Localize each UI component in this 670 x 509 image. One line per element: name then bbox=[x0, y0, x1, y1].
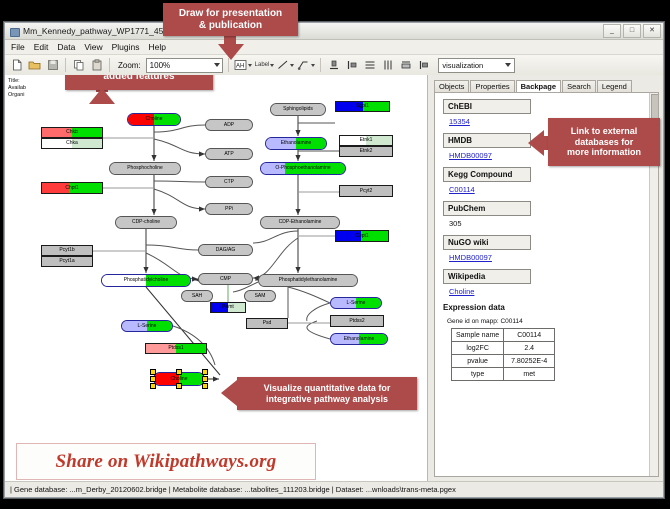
table-cell-value: 2.4 bbox=[504, 342, 555, 355]
backpage-link-kegg-compound[interactable]: C00114 bbox=[449, 185, 658, 194]
selection-handle[interactable] bbox=[202, 369, 208, 375]
svg-text:AH: AH bbox=[236, 64, 244, 70]
metabolite-node-l-serine-right[interactable]: L-Serine bbox=[330, 297, 382, 309]
table-cell-key: Sample name bbox=[452, 329, 504, 342]
table-cell-key: log2FC bbox=[452, 342, 504, 355]
backpage-section-header-kegg-compound: Kegg Compound bbox=[443, 167, 531, 182]
node-label: ADP bbox=[224, 123, 234, 128]
chevron-down-icon bbox=[214, 63, 220, 67]
new-file-icon[interactable] bbox=[9, 58, 24, 73]
status-bar: | Gene database: ...m_Derby_20120602.bri… bbox=[5, 481, 663, 497]
node-label: PPi bbox=[225, 207, 233, 212]
node-label: Phosphatidylcholine bbox=[124, 278, 168, 283]
metabolite-node-dag-ag[interactable]: DAG/AG bbox=[198, 244, 253, 256]
chevron-down-icon bbox=[270, 64, 274, 67]
metabolite-node-ethanolamine-right[interactable]: Ethanolamine bbox=[330, 333, 388, 345]
callout-plugins-text: Easily install plugins for added feature… bbox=[81, 75, 196, 83]
node-label: DAG/AG bbox=[216, 248, 235, 253]
zoom-label: Zoom: bbox=[118, 61, 141, 70]
text-label-tool[interactable]: AH bbox=[234, 59, 252, 71]
tab-legend[interactable]: Legend bbox=[597, 80, 632, 92]
callout-draw-arrow bbox=[218, 44, 244, 60]
node-label: CTP bbox=[224, 180, 234, 185]
node-label: SAH bbox=[192, 294, 202, 299]
node-label: CMP bbox=[220, 277, 231, 282]
app-icon bbox=[9, 26, 19, 36]
metabolite-node-cdp-choline[interactable]: CDP-choline bbox=[115, 216, 177, 229]
metabolite-node-adp[interactable]: ADP bbox=[205, 119, 253, 131]
callout-plugins-arrow bbox=[89, 88, 115, 104]
metabolite-node-ppi[interactable]: PPi bbox=[205, 203, 253, 215]
node-label: CDP-Ethanolamine bbox=[279, 220, 322, 225]
tab-objects[interactable]: Objects bbox=[434, 80, 469, 92]
node-label: Ethanolamine bbox=[344, 337, 375, 342]
node-label: Chka bbox=[66, 141, 78, 146]
toolbar-separator-2 bbox=[109, 58, 110, 72]
node-label: Ptdss1 bbox=[168, 346, 183, 351]
metabolite-node-phosphocholine[interactable]: Phosphocholine bbox=[109, 162, 181, 175]
expression-data-table: Sample nameC00114log2FC2.4pvalue7.80252E… bbox=[451, 328, 555, 381]
group-icon[interactable] bbox=[398, 58, 413, 73]
node-label: Etnk1 bbox=[360, 138, 373, 143]
backpage-section-header-pubchem: PubChem bbox=[443, 201, 531, 216]
gene-node-ptdss1[interactable]: Ptdss1 bbox=[145, 343, 207, 354]
callout-links: Link to external databases for more info… bbox=[548, 118, 660, 166]
open-folder-icon[interactable] bbox=[27, 58, 42, 73]
zoom-combobox[interactable]: 100% bbox=[146, 58, 223, 73]
table-row: log2FC2.4 bbox=[452, 342, 555, 355]
metabolite-node-cdp-ethanolamine[interactable]: CDP-Ethanolamine bbox=[260, 216, 340, 229]
copy-icon[interactable] bbox=[71, 58, 86, 73]
toolbar-separator-3 bbox=[228, 58, 229, 72]
node-label: Pcyt2 bbox=[360, 189, 373, 194]
node-label: Sgpl1 bbox=[356, 104, 369, 109]
backpage-section-header-wikipedia: Wikipedia bbox=[443, 269, 531, 284]
node-label: Ptdss2 bbox=[349, 319, 364, 324]
callout-plugins: Easily install plugins for added feature… bbox=[65, 75, 213, 90]
gene-node-sgpl1[interactable]: Sgpl1 bbox=[335, 101, 390, 112]
backpage-section-header-hmdb: HMDB bbox=[443, 133, 531, 148]
share-banner: Share on Wikipathways.org bbox=[16, 443, 316, 480]
node-label: Phosphatidylethanolamine bbox=[279, 278, 338, 283]
node-label: SAM bbox=[255, 294, 266, 299]
metabolite-node-phosphatidyleth[interactable]: Phosphatidylethanolamine bbox=[258, 274, 358, 287]
metabolite-node-cmp[interactable]: CMP bbox=[198, 273, 253, 285]
gene-node-pcyt1a[interactable]: Pcyt1a bbox=[41, 256, 93, 267]
metabolite-node-l-serine-left[interactable]: L-Serine bbox=[121, 320, 173, 332]
table-cell-value: 7.80252E-4 bbox=[504, 355, 555, 368]
callout-draw: Draw for presentation & publication bbox=[163, 3, 298, 36]
gene-id-line: Gene id on mapp: C00114 bbox=[447, 318, 658, 325]
zoom-value: 100% bbox=[150, 61, 170, 70]
gene-node-etnk1[interactable]: Etnk1 bbox=[339, 135, 393, 146]
node-label: Choline bbox=[146, 117, 163, 122]
selection-handle[interactable] bbox=[150, 383, 156, 389]
metabolite-node-sam[interactable]: SAM bbox=[244, 290, 276, 302]
side-panel-tabs: Objects Properties Backpage Search Legen… bbox=[428, 78, 663, 92]
node-label: L-Serine bbox=[138, 324, 157, 329]
gene-node-chkb[interactable]: Chkb bbox=[41, 127, 103, 138]
metabolite-node-ethanolamine-top[interactable]: Ethanolamine bbox=[265, 137, 327, 150]
menu-item-data[interactable]: Data bbox=[57, 42, 75, 52]
tool-bar: Zoom: 100% AH Label bbox=[5, 55, 663, 76]
metabolite-node-ophosphoeth[interactable]: O-Phosphoethanolamine bbox=[260, 162, 346, 175]
interaction-tool[interactable] bbox=[297, 59, 315, 71]
node-label: Psd bbox=[263, 321, 272, 326]
node-label: Ethanolamine bbox=[281, 141, 312, 146]
chevron-down-icon bbox=[505, 63, 511, 67]
line-tool[interactable] bbox=[277, 59, 294, 71]
pathvisio-window: Mm_Kennedy_pathway_WP1771_45176.gpml _ □… bbox=[4, 22, 664, 498]
tab-properties[interactable]: Properties bbox=[470, 80, 514, 92]
node-label: O-Phosphoethanolamine bbox=[275, 166, 330, 171]
metabolite-node-phosphatidylcholine[interactable]: Phosphatidylcholine bbox=[101, 274, 191, 287]
node-label: Phosphocholine bbox=[127, 166, 163, 171]
table-cell-value: met bbox=[504, 368, 555, 381]
callout-visualize-arrow bbox=[221, 380, 237, 406]
menu-item-file[interactable]: File bbox=[11, 42, 25, 52]
backpage-link-nugo-wiki[interactable]: HMDB00097 bbox=[449, 253, 658, 262]
menu-bar: File Edit Data View Plugins Help bbox=[5, 40, 663, 55]
gene-node-pcyt1b[interactable]: Pcyt1b bbox=[41, 245, 93, 256]
menu-item-edit[interactable]: Edit bbox=[34, 42, 49, 52]
align-top-icon[interactable] bbox=[326, 58, 341, 73]
visualization-value: visualization bbox=[442, 61, 483, 70]
callout-draw-text: Draw for presentation & publication bbox=[179, 8, 282, 31]
chevron-down-icon bbox=[248, 64, 252, 67]
window-controls: _ □ ✕ bbox=[603, 24, 661, 38]
gene-node-pcyt2[interactable]: Pcyt2 bbox=[339, 185, 393, 197]
metabolite-node-choline-top[interactable]: Choline bbox=[127, 113, 181, 126]
tab-search[interactable]: Search bbox=[562, 80, 596, 92]
gene-node-psd[interactable]: Psd bbox=[246, 318, 288, 329]
gene-node-pemt[interactable]: Pemt bbox=[210, 302, 246, 313]
screenshot-root: Mm_Kennedy_pathway_WP1771_45176.gpml _ □… bbox=[0, 0, 670, 509]
table-cell-key: pvalue bbox=[452, 355, 504, 368]
share-banner-text: Share on Wikipathways.org bbox=[56, 451, 277, 473]
toolbar-separator-4 bbox=[320, 58, 321, 72]
metabolite-node-atp[interactable]: ATP bbox=[205, 148, 253, 160]
callout-visualize-text: Visualize quantitative data for integrat… bbox=[264, 383, 391, 404]
node-label: Sphingolipids bbox=[283, 107, 313, 112]
table-row: pvalue7.80252E-4 bbox=[452, 355, 555, 368]
node-label: Chkb bbox=[66, 130, 78, 135]
visualization-combobox[interactable]: visualization bbox=[438, 58, 515, 73]
selection-handle[interactable] bbox=[202, 376, 208, 382]
backpage-link-wikipedia[interactable]: Choline bbox=[449, 287, 658, 296]
minimize-button[interactable]: _ bbox=[603, 24, 621, 38]
table-cell-key: type bbox=[452, 368, 504, 381]
save-icon[interactable] bbox=[45, 58, 60, 73]
expression-data-title: Expression data bbox=[443, 303, 658, 312]
gene-node-etnk2[interactable]: Etnk2 bbox=[339, 146, 393, 157]
backpage-section-header-nugo-wiki: NuGO wiki bbox=[443, 235, 531, 250]
table-row: Sample nameC00114 bbox=[452, 329, 555, 342]
menu-item-plugins[interactable]: Plugins bbox=[112, 42, 140, 52]
selection-handle[interactable] bbox=[176, 369, 182, 375]
align-left-icon[interactable] bbox=[344, 58, 359, 73]
callout-links-arrow bbox=[528, 130, 544, 156]
chevron-down-icon bbox=[290, 64, 294, 67]
node-label: Pcyt1b bbox=[59, 248, 74, 253]
node-label: Choline bbox=[171, 377, 188, 382]
metabolite-node-ctp[interactable]: CTP bbox=[205, 176, 253, 188]
status-bar-text: | Gene database: ...m_Derby_20120602.bri… bbox=[10, 485, 456, 494]
node-label: Etnk2 bbox=[360, 149, 373, 154]
node-label: Cept1 bbox=[355, 234, 368, 239]
toolbar-separator bbox=[65, 58, 66, 72]
selection-handle[interactable] bbox=[202, 383, 208, 389]
node-label: Chpt1 bbox=[65, 186, 78, 191]
node-label: CDP-choline bbox=[132, 220, 160, 225]
callout-links-text: Link to external databases for more info… bbox=[567, 126, 641, 157]
align-columns-icon[interactable] bbox=[380, 58, 395, 73]
paste-icon[interactable] bbox=[89, 58, 104, 73]
metabolite-node-sphingolipids[interactable]: Sphingolipids bbox=[270, 103, 326, 116]
menu-item-view[interactable]: View bbox=[84, 42, 102, 52]
align-rows-icon[interactable] bbox=[362, 58, 377, 73]
selection-handle[interactable] bbox=[150, 369, 156, 375]
gene-node-ptdss2[interactable]: Ptdss2 bbox=[330, 315, 384, 327]
maximize-button[interactable]: □ bbox=[623, 24, 641, 38]
node-label: ATP bbox=[224, 152, 233, 157]
menu-item-help[interactable]: Help bbox=[149, 42, 166, 52]
table-cell-value: C00114 bbox=[504, 329, 555, 342]
gene-node-cept1[interactable]: Cept1 bbox=[335, 230, 389, 242]
table-row: typemet bbox=[452, 368, 555, 381]
stack-icon[interactable] bbox=[416, 58, 431, 73]
gene-node-chpt1[interactable]: Chpt1 bbox=[41, 182, 103, 194]
label-tool[interactable]: Label bbox=[255, 62, 275, 68]
node-label: Pcyt1a bbox=[59, 259, 74, 264]
gene-node-chka[interactable]: Chka bbox=[41, 138, 103, 149]
backpage-section-header-chebi: ChEBI bbox=[443, 99, 531, 114]
node-label: L-Serine bbox=[347, 301, 366, 306]
chevron-down-icon bbox=[311, 64, 315, 67]
title-bar: Mm_Kennedy_pathway_WP1771_45176.gpml _ □… bbox=[5, 23, 663, 40]
close-button[interactable]: ✕ bbox=[643, 24, 661, 38]
node-label: Pemt bbox=[222, 305, 234, 310]
selection-handle[interactable] bbox=[176, 383, 182, 389]
callout-visualize: Visualize quantitative data for integrat… bbox=[237, 377, 417, 410]
metabolite-node-sah[interactable]: SAH bbox=[181, 290, 213, 302]
selection-handle[interactable] bbox=[150, 376, 156, 382]
backpage-value-pubchem: 305 bbox=[449, 219, 658, 228]
pathway-canvas[interactable]: Title: Availab Organi bbox=[5, 75, 428, 481]
label-tool-text: Label bbox=[255, 62, 270, 68]
